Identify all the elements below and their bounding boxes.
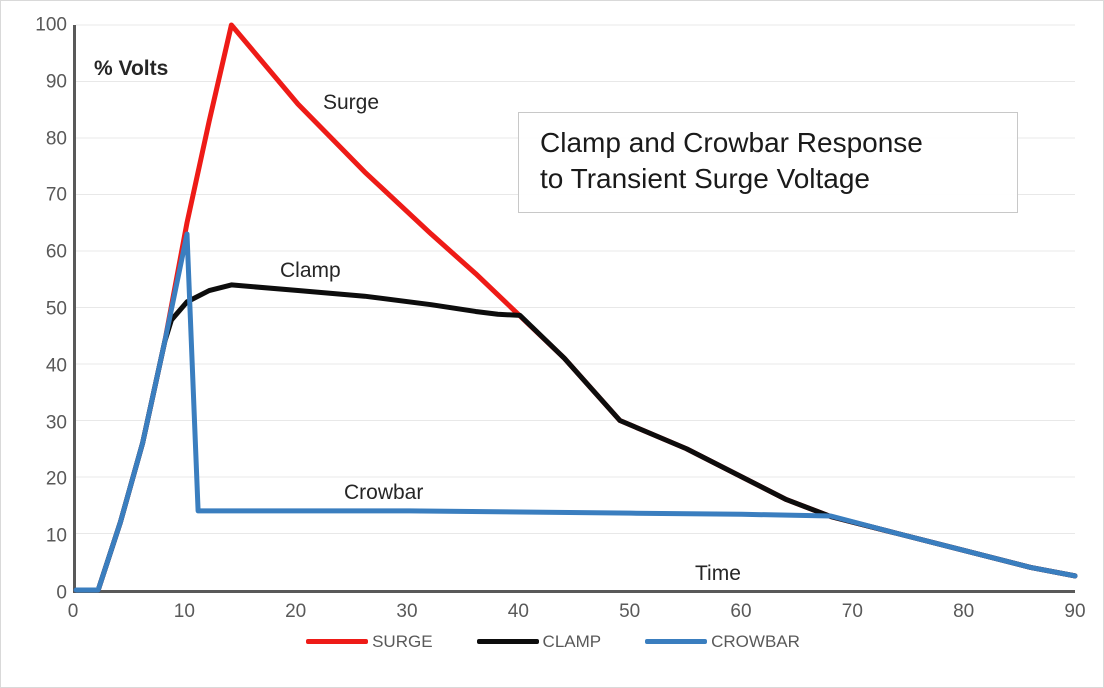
y-tick-label: 100: [21, 16, 67, 35]
x-tick-label: 50: [600, 602, 660, 621]
y-tick-label: 10: [21, 527, 67, 546]
y-axis-title: % Volts: [94, 58, 168, 79]
plot-svg: [76, 25, 1075, 590]
chart-container: 0102030405060708090100 01020304050607080…: [0, 0, 1104, 688]
y-tick-label: 30: [21, 413, 67, 432]
legend-item-crowbar[interactable]: CROWBAR: [645, 633, 800, 650]
x-tick-label: 60: [711, 602, 771, 621]
legend-swatch-clamp: [477, 639, 539, 644]
x-tick-label: 0: [43, 602, 103, 621]
legend-swatch-crowbar: [645, 639, 707, 644]
y-tick-label: 90: [21, 72, 67, 91]
x-tick-label: 10: [154, 602, 214, 621]
y-tick-label: 60: [21, 243, 67, 262]
legend-item-surge[interactable]: SURGE: [306, 633, 432, 650]
series-label-crowbar: Crowbar: [344, 482, 423, 503]
y-tick-label: 20: [21, 470, 67, 489]
chart-title-line-1: Clamp and Crowbar Response: [540, 125, 1017, 161]
gridlines: [76, 25, 1075, 534]
series-label-clamp: Clamp: [280, 260, 341, 281]
chart-title-box: Clamp and Crowbar Response to Transient …: [518, 112, 1018, 213]
x-axis-title: Time: [695, 563, 741, 584]
plot-area: [73, 25, 1075, 593]
y-tick-label: 50: [21, 300, 67, 319]
legend-label-clamp: CLAMP: [543, 633, 602, 650]
series-label-surge: Surge: [323, 92, 379, 113]
y-tick-label: 70: [21, 186, 67, 205]
y-tick-label: 0: [21, 584, 67, 603]
x-tick-label: 40: [488, 602, 548, 621]
x-tick-label: 30: [377, 602, 437, 621]
chart-title-line-2: to Transient Surge Voltage: [540, 161, 1017, 197]
x-tick-label: 80: [934, 602, 994, 621]
series-line-clamp: [76, 285, 1075, 590]
x-tick-label: 70: [822, 602, 882, 621]
x-tick-label: 20: [266, 602, 326, 621]
legend-item-clamp[interactable]: CLAMP: [477, 633, 602, 650]
x-tick-label: 90: [1045, 602, 1104, 621]
y-tick-label: 80: [21, 129, 67, 148]
chart-legend: SURGECLAMPCROWBAR: [1, 633, 1104, 650]
legend-label-crowbar: CROWBAR: [711, 633, 800, 650]
legend-label-surge: SURGE: [372, 633, 432, 650]
y-tick-label: 40: [21, 356, 67, 375]
legend-swatch-surge: [306, 639, 368, 644]
